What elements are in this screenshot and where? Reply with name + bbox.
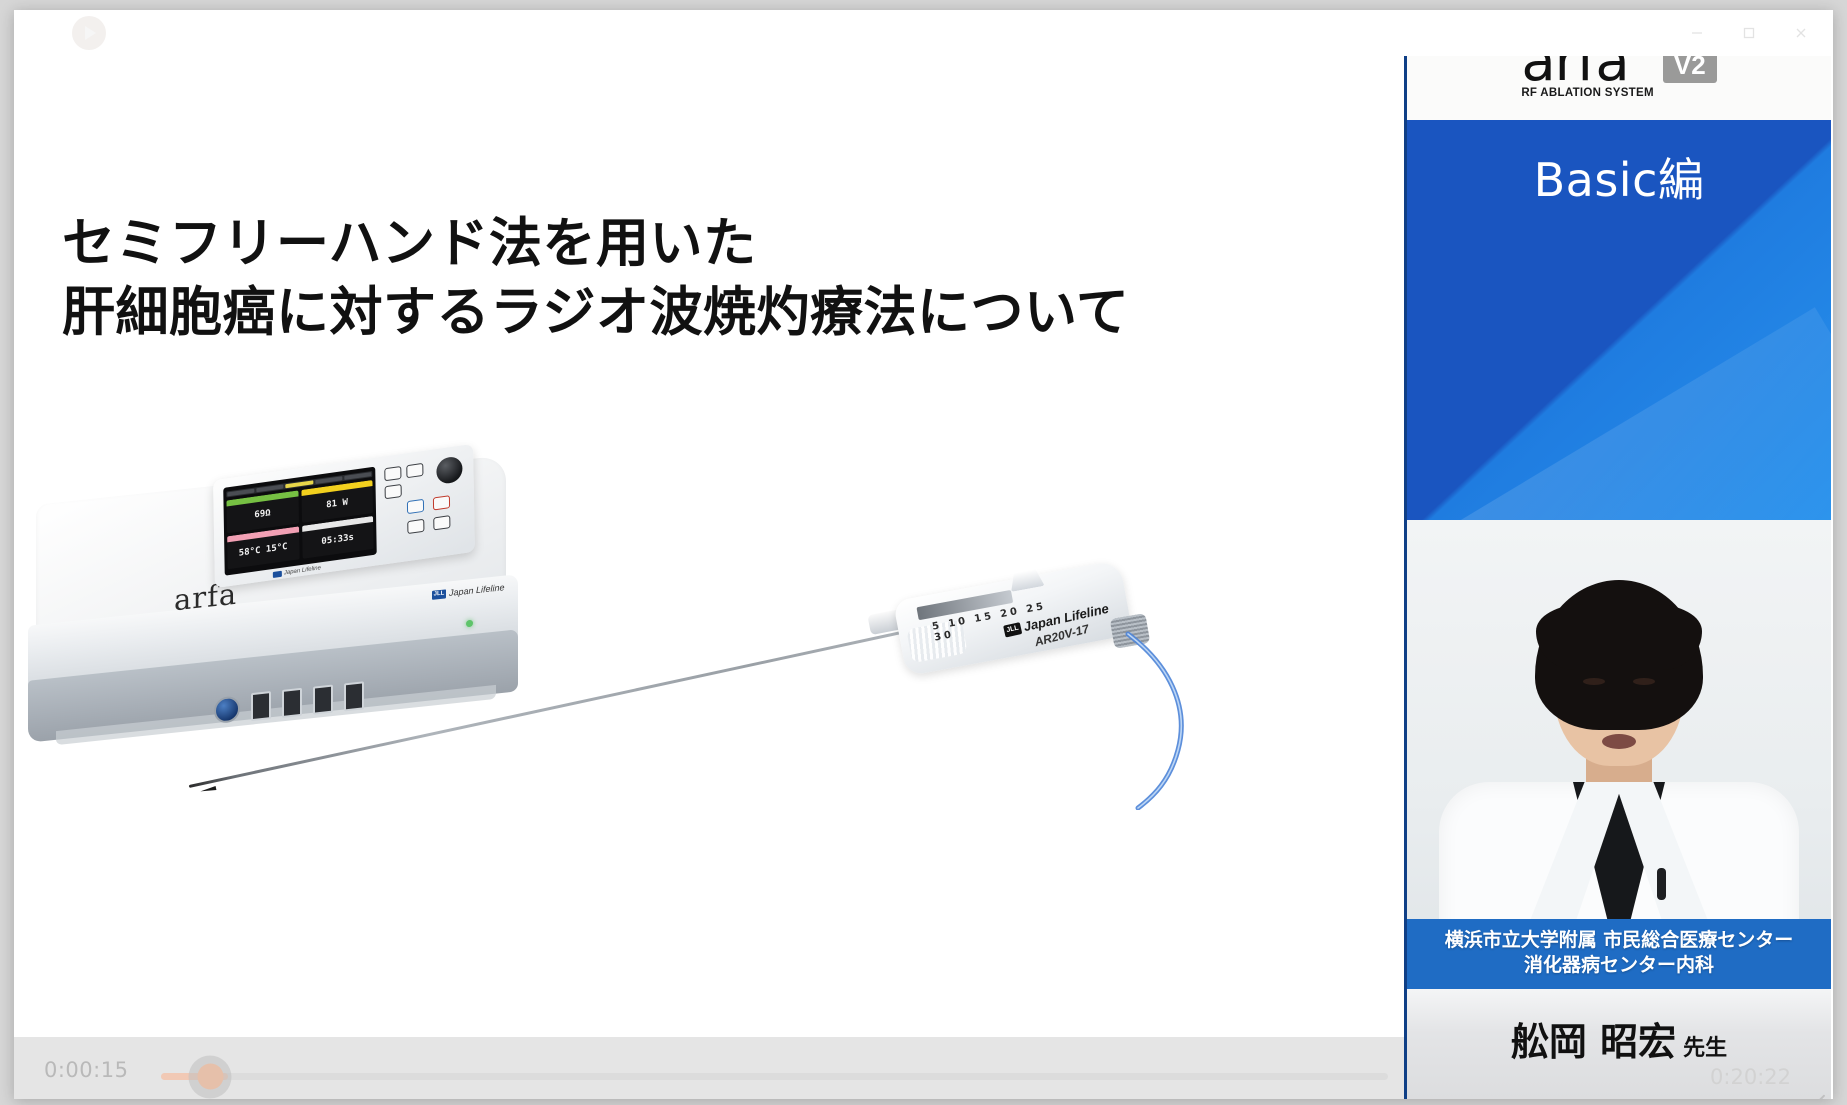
title-line-2: 肝細胞癌に対するラジオ波焼灼療法について	[62, 279, 1292, 348]
media-player-window: セミフリーハンド法を用いた 肝細胞癌に対するラジオ波焼灼療法について arfa …	[14, 10, 1833, 1099]
lcd-screen: 69Ω 81 W 58°C 15°C 05:33s	[223, 467, 377, 576]
presenter-mouth	[1602, 734, 1636, 749]
lcd-tab	[315, 476, 342, 484]
presenter-fringe	[1536, 604, 1702, 670]
play-icon[interactable]	[72, 16, 106, 50]
electrode-handle: 5 10 15 20 25 30 JLL Japan Lifeline AR20…	[893, 560, 1133, 677]
console-key	[385, 484, 402, 499]
electrode-port-icon	[344, 681, 364, 711]
electrode-port-icon	[282, 688, 302, 718]
lapel-microphone-icon	[1657, 868, 1666, 900]
affiliation-caption: 横浜市立大学附属 市民総合医療センター 消化器病センター内科	[1407, 919, 1831, 989]
console-key-stop	[433, 495, 450, 510]
lcd-cell: 58°C 15°C	[227, 526, 299, 569]
window-titlebar	[14, 10, 1833, 56]
section-banner: Basic編	[1407, 120, 1831, 520]
presenter-eye-left	[1583, 678, 1605, 685]
player-control-bar[interactable]: 0:00:15	[14, 1037, 1404, 1099]
console-keypad	[380, 455, 467, 553]
presenter-eye-right	[1633, 678, 1655, 685]
presenter-name-bar: 舩岡 昭宏先生 0:20:22	[1407, 989, 1831, 1099]
lcd-tab-active	[286, 480, 313, 488]
right-sidebar: arfa RF ABLATION SYSTEM V2 Basic編 横浜市立	[1404, 10, 1831, 1099]
current-time-label: 0:00:15	[44, 1058, 128, 1082]
seek-thumb-core	[197, 1064, 223, 1090]
seek-slider[interactable]	[161, 1073, 1388, 1080]
console-key	[407, 519, 424, 534]
maximize-icon[interactable]	[1725, 18, 1773, 48]
minimize-icon[interactable]	[1673, 18, 1721, 48]
electrode-port-icon	[313, 685, 333, 715]
window-controls	[1673, 18, 1825, 48]
total-time-label: 0:20:22	[1710, 1065, 1791, 1089]
rotary-knob-icon	[436, 455, 462, 485]
device-illustration: arfa JLL Japan Lifeline	[14, 440, 1404, 860]
lcd-cell: 05:33s	[302, 516, 374, 559]
presenter-name: 舩岡 昭宏先生	[1407, 1011, 1831, 1066]
presenter-name-suffix: 先生	[1683, 1036, 1727, 1061]
play-triangle-icon	[85, 26, 96, 40]
slide-content-pane: セミフリーハンド法を用いた 肝細胞癌に対するラジオ波焼灼療法について arfa …	[14, 10, 1404, 1057]
lcd-tab	[257, 484, 284, 492]
console-key	[384, 466, 401, 481]
page-title: セミフリーハンド法を用いた 肝細胞癌に対するラジオ波焼灼療法について	[62, 210, 1292, 348]
lcd-tab	[227, 489, 254, 497]
jll-mark-icon: JLL	[1003, 622, 1022, 637]
resize-grip-line	[1815, 1097, 1822, 1099]
handle-slider-tab	[1008, 568, 1045, 592]
console-key	[406, 463, 423, 478]
grounding-port-icon	[214, 695, 240, 724]
console-key	[433, 515, 450, 530]
jll-mark-icon: JLL	[432, 589, 446, 599]
jll-mark-icon	[273, 571, 282, 578]
presenter-name-text: 舩岡 昭宏	[1511, 1020, 1676, 1064]
needle-tip	[182, 786, 216, 797]
affiliation-line-2: 消化器病センター内科	[1411, 953, 1827, 978]
presenter-video[interactable]: 横浜市立大学附属 市民総合医療センター 消化器病センター内科	[1407, 520, 1831, 989]
affiliation-line-1: 横浜市立大学附属 市民総合医療センター	[1445, 929, 1794, 951]
electrode-cable	[1124, 630, 1214, 810]
title-line-1: セミフリーハンド法を用いた	[62, 210, 1292, 279]
electrode-port-icon	[251, 691, 271, 721]
lcd-tab	[344, 472, 371, 480]
resize-grip-icon[interactable]	[1812, 1082, 1825, 1095]
arfa-tagline: RF ABLATION SYSTEM	[1521, 87, 1654, 99]
close-icon[interactable]	[1777, 18, 1825, 48]
section-banner-label: Basic編	[1407, 120, 1831, 210]
console-key-start	[407, 499, 424, 514]
seek-thumb[interactable]	[189, 1055, 232, 1098]
